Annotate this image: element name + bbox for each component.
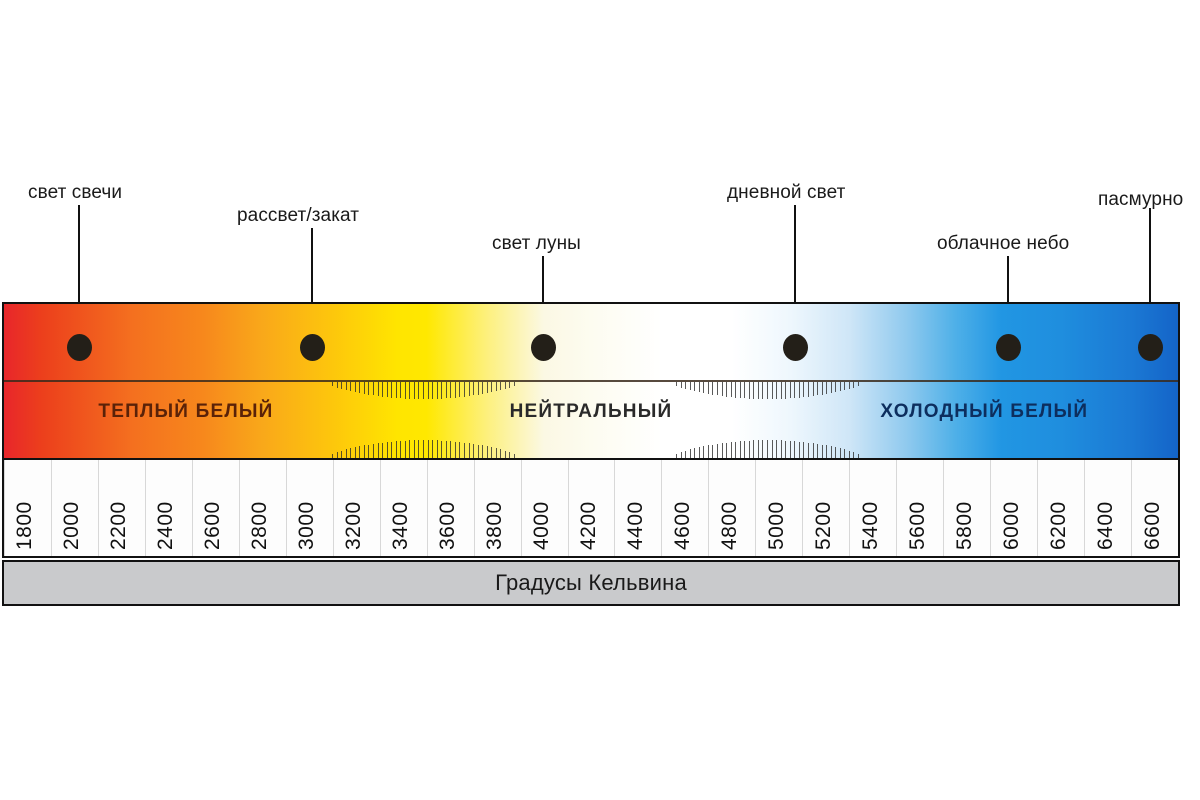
ruler-tick xyxy=(455,382,456,398)
ruler-tick xyxy=(509,382,510,388)
ruler-tick xyxy=(355,382,356,392)
ruler-tick xyxy=(726,443,727,458)
kelvin-value-2400: 2400 xyxy=(154,501,178,550)
ruler-tick xyxy=(514,454,515,458)
callout-label-moon: свет луны xyxy=(492,233,581,255)
ruler-tick xyxy=(346,449,347,458)
kelvin-divider xyxy=(990,460,991,558)
ruler-tick xyxy=(744,441,745,458)
ruler-tick xyxy=(469,443,470,458)
ruler-tick xyxy=(482,445,483,458)
kelvin-divider xyxy=(521,460,522,558)
ruler-tick xyxy=(387,442,388,458)
kelvin-divider xyxy=(1037,460,1038,558)
callout-label-daylight: дневной свет xyxy=(727,182,845,204)
kelvin-value-3600: 3600 xyxy=(436,501,460,550)
kelvin-value-3200: 3200 xyxy=(342,501,366,550)
ruler-tick xyxy=(373,382,374,395)
ruler-tick xyxy=(496,448,497,458)
ruler-tick xyxy=(441,382,442,399)
ruler-tick xyxy=(382,443,383,458)
ruler-tick xyxy=(409,440,410,458)
kelvin-divider xyxy=(896,460,897,558)
kelvin-divider xyxy=(661,460,662,558)
ruler-tick xyxy=(822,445,823,458)
ruler-tick xyxy=(726,382,727,397)
ruler-tick xyxy=(382,382,383,397)
marker-dot-moon[interactable] xyxy=(531,334,556,361)
ruler-tick xyxy=(781,382,782,399)
ruler-tick xyxy=(396,382,397,398)
ruler-tick xyxy=(762,382,763,399)
kelvin-value-4600: 4600 xyxy=(671,501,695,550)
ruler-tick xyxy=(690,382,691,390)
ruler-tick xyxy=(858,382,859,386)
tick-group-lower-right xyxy=(676,436,858,458)
ruler-tick xyxy=(391,382,392,398)
ruler-tick xyxy=(690,449,691,458)
ruler-tick xyxy=(694,448,695,458)
ruler-tick xyxy=(400,441,401,458)
kelvin-divider xyxy=(333,460,334,558)
ruler-tick xyxy=(731,382,732,397)
color-temperature-chart: свет свечирассвет/закатсвет луныдневной … xyxy=(0,0,1200,800)
ruler-tick xyxy=(478,445,479,458)
kelvin-value-6600: 6600 xyxy=(1141,501,1165,550)
ruler-tick xyxy=(491,382,492,392)
ruler-tick xyxy=(341,382,342,389)
callout-label-sunrise: рассвет/закат xyxy=(237,205,359,227)
ruler-tick xyxy=(378,443,379,458)
ruler-tick xyxy=(685,451,686,459)
ruler-tick xyxy=(835,382,836,392)
ruler-tick xyxy=(455,442,456,458)
kelvin-divider xyxy=(286,460,287,558)
ruler-tick xyxy=(473,444,474,458)
axis-title-bar: Градусы Кельвина xyxy=(2,560,1180,606)
ruler-tick xyxy=(822,382,823,395)
ruler-tick xyxy=(803,382,804,397)
ruler-tick xyxy=(767,440,768,458)
kelvin-divider xyxy=(614,460,615,558)
ruler-tick xyxy=(717,444,718,458)
ruler-tick xyxy=(359,382,360,393)
callout-label-candle: свет свечи xyxy=(28,182,122,204)
kelvin-divider xyxy=(802,460,803,558)
ruler-tick xyxy=(505,382,506,389)
tick-group-upper-right xyxy=(676,382,858,404)
ruler-tick xyxy=(359,446,360,458)
band-label-neutral: НЕЙТРАЛЬНЫЙ xyxy=(510,401,673,423)
ruler-tick xyxy=(703,446,704,458)
marker-dot-candle[interactable] xyxy=(67,334,92,361)
ruler-tick xyxy=(699,447,700,458)
kelvin-divider xyxy=(4,460,5,558)
kelvin-value-1800: 1800 xyxy=(13,501,37,550)
ruler-tick xyxy=(708,445,709,458)
ruler-tick xyxy=(685,382,686,389)
kelvin-divider xyxy=(145,460,146,558)
kelvin-value-6200: 6200 xyxy=(1047,501,1071,550)
ruler-tick xyxy=(500,449,501,458)
ruler-tick xyxy=(826,445,827,458)
ruler-tick xyxy=(459,382,460,397)
kelvin-scale-strip: 1800200022002400260028003000320034003600… xyxy=(2,460,1180,558)
ruler-tick xyxy=(446,441,447,458)
kelvin-value-2000: 2000 xyxy=(60,501,84,550)
kelvin-value-4200: 4200 xyxy=(577,501,601,550)
ruler-tick xyxy=(414,382,415,399)
ruler-tick xyxy=(808,382,809,397)
ruler-tick xyxy=(418,382,419,399)
ruler-tick xyxy=(423,382,424,399)
ruler-tick xyxy=(350,382,351,391)
ruler-tick xyxy=(428,382,429,399)
spectrum-divider xyxy=(4,380,1178,382)
ruler-tick xyxy=(772,382,773,399)
ruler-tick xyxy=(387,382,388,397)
kelvin-value-4400: 4400 xyxy=(624,501,648,550)
ruler-tick xyxy=(446,382,447,398)
kelvin-value-5600: 5600 xyxy=(906,501,930,550)
kelvin-value-6000: 6000 xyxy=(1000,501,1024,550)
ruler-tick xyxy=(341,451,342,459)
kelvin-value-4800: 4800 xyxy=(718,501,742,550)
kelvin-value-5000: 5000 xyxy=(765,501,789,550)
kelvin-value-5800: 5800 xyxy=(953,501,977,550)
ruler-tick xyxy=(437,440,438,458)
kelvin-value-5200: 5200 xyxy=(812,501,836,550)
band-label-warm: ТЕПЛЫЙ БЕЛЫЙ xyxy=(98,401,273,423)
ruler-tick xyxy=(722,443,723,458)
ruler-tick xyxy=(785,382,786,399)
ruler-tick xyxy=(391,442,392,458)
ruler-tick xyxy=(858,454,859,458)
ruler-tick xyxy=(776,440,777,458)
ruler-tick xyxy=(337,452,338,458)
ruler-tick xyxy=(332,454,333,458)
ruler-tick xyxy=(735,442,736,458)
ruler-tick xyxy=(849,382,850,389)
ruler-tick xyxy=(414,440,415,458)
kelvin-value-2800: 2800 xyxy=(248,501,272,550)
ruler-tick xyxy=(749,382,750,399)
ruler-tick xyxy=(368,445,369,458)
kelvin-divider xyxy=(51,460,52,558)
ruler-tick xyxy=(826,382,827,394)
axis-title-label: Градусы Кельвина xyxy=(495,570,687,596)
callout-label-overcast: пасмурно xyxy=(1098,189,1183,211)
ruler-tick xyxy=(373,444,374,458)
ruler-tick xyxy=(405,441,406,459)
ruler-tick xyxy=(808,443,809,458)
ruler-tick xyxy=(813,443,814,458)
ruler-tick xyxy=(487,446,488,458)
ruler-tick xyxy=(799,382,800,398)
kelvin-value-3000: 3000 xyxy=(295,501,319,550)
ruler-tick xyxy=(753,440,754,458)
kelvin-divider xyxy=(192,460,193,558)
ruler-tick xyxy=(722,382,723,396)
ruler-tick xyxy=(496,382,497,391)
kelvin-value-3800: 3800 xyxy=(483,501,507,550)
ruler-tick xyxy=(378,382,379,396)
kelvin-divider xyxy=(708,460,709,558)
ruler-tick xyxy=(712,382,713,395)
ruler-tick xyxy=(676,382,677,386)
ruler-tick xyxy=(355,447,356,458)
ruler-tick xyxy=(703,382,704,393)
ruler-tick xyxy=(509,452,510,458)
ruler-tick xyxy=(712,445,713,458)
ruler-tick xyxy=(423,440,424,458)
ruler-tick xyxy=(469,382,470,396)
ruler-tick xyxy=(491,447,492,458)
tick-group-lower-left xyxy=(332,436,514,458)
ruler-tick xyxy=(817,382,818,395)
ruler-tick xyxy=(740,382,741,398)
ruler-tick xyxy=(813,382,814,396)
kelvin-divider xyxy=(427,460,428,558)
ruler-tick xyxy=(337,382,338,388)
ruler-tick xyxy=(346,382,347,390)
ruler-tick xyxy=(432,382,433,399)
ruler-tick xyxy=(753,382,754,399)
ruler-tick xyxy=(699,382,700,392)
ruler-tick xyxy=(749,441,750,459)
kelvin-divider xyxy=(943,460,944,558)
ruler-tick xyxy=(731,442,732,458)
ruler-tick xyxy=(368,382,369,395)
ruler-tick xyxy=(740,441,741,458)
ruler-tick xyxy=(844,449,845,458)
kelvin-divider xyxy=(568,460,569,558)
ruler-tick xyxy=(762,440,763,458)
ruler-tick xyxy=(364,445,365,458)
ruler-tick xyxy=(776,382,777,399)
ruler-tick xyxy=(464,382,465,397)
kelvin-value-2600: 2600 xyxy=(201,501,225,550)
ruler-tick xyxy=(450,382,451,398)
ruler-tick xyxy=(758,440,759,458)
ruler-tick xyxy=(400,382,401,398)
ruler-tick xyxy=(478,382,479,395)
ruler-tick xyxy=(767,382,768,399)
marker-dot-daylight[interactable] xyxy=(783,334,808,361)
ruler-tick xyxy=(482,382,483,394)
tick-group-upper-left xyxy=(332,382,514,404)
kelvin-divider xyxy=(98,460,99,558)
ruler-tick xyxy=(514,382,515,386)
kelvin-divider xyxy=(755,460,756,558)
marker-dot-overcast[interactable] xyxy=(1138,334,1163,361)
kelvin-divider xyxy=(380,460,381,558)
ruler-tick xyxy=(487,382,488,393)
ruler-tick xyxy=(744,382,745,398)
ruler-tick xyxy=(831,382,832,393)
ruler-tick xyxy=(409,382,410,399)
ruler-tick xyxy=(432,440,433,458)
ruler-tick xyxy=(428,440,429,458)
ruler-tick xyxy=(681,452,682,458)
ruler-tick xyxy=(405,382,406,399)
ruler-tick xyxy=(437,382,438,399)
kelvin-divider xyxy=(239,460,240,558)
ruler-tick xyxy=(794,382,795,398)
ruler-tick xyxy=(781,440,782,458)
ruler-tick xyxy=(717,382,718,395)
ruler-tick xyxy=(831,446,832,458)
ruler-tick xyxy=(418,440,419,458)
ruler-tick xyxy=(790,441,791,458)
ruler-tick xyxy=(473,382,474,395)
ruler-tick xyxy=(817,444,818,458)
kelvin-divider xyxy=(474,460,475,558)
ruler-tick xyxy=(464,443,465,458)
ruler-tick xyxy=(735,382,736,398)
ruler-tick xyxy=(681,382,682,388)
callout-label-cloudy: облачное небо xyxy=(937,233,1069,255)
ruler-tick xyxy=(505,451,506,459)
ruler-tick xyxy=(708,382,709,394)
ruler-tick xyxy=(785,441,786,459)
kelvin-value-4000: 4000 xyxy=(530,501,554,550)
ruler-tick xyxy=(853,452,854,458)
ruler-tick xyxy=(844,382,845,390)
kelvin-value-3400: 3400 xyxy=(389,501,413,550)
ruler-tick xyxy=(803,442,804,458)
ruler-tick xyxy=(772,440,773,458)
spectrum-bar: ТЕПЛЫЙ БЕЛЫЙНЕЙТРАЛЬНЫЙХОЛОДНЫЙ БЕЛЫЙ xyxy=(2,302,1180,460)
ruler-tick xyxy=(758,382,759,399)
kelvin-divider xyxy=(1084,460,1085,558)
marker-dot-sunrise[interactable] xyxy=(300,334,325,361)
kelvin-value-2200: 2200 xyxy=(107,501,131,550)
ruler-tick xyxy=(676,454,677,458)
kelvin-value-6400: 6400 xyxy=(1094,501,1118,550)
ruler-tick xyxy=(794,441,795,458)
ruler-tick xyxy=(459,442,460,458)
ruler-tick xyxy=(450,441,451,458)
ruler-tick xyxy=(790,382,791,398)
ruler-tick xyxy=(835,447,836,458)
kelvin-value-5400: 5400 xyxy=(859,501,883,550)
kelvin-divider xyxy=(1131,460,1132,558)
ruler-tick xyxy=(840,448,841,458)
ruler-tick xyxy=(849,451,850,459)
ruler-tick xyxy=(364,382,365,394)
ruler-tick xyxy=(799,442,800,458)
marker-dot-cloudy[interactable] xyxy=(996,334,1021,361)
ruler-tick xyxy=(853,382,854,388)
ruler-tick xyxy=(350,448,351,458)
ruler-tick xyxy=(500,382,501,390)
ruler-tick xyxy=(332,382,333,386)
ruler-tick xyxy=(396,441,397,458)
kelvin-divider xyxy=(849,460,850,558)
band-label-cool: ХОЛОДНЫЙ БЕЛЫЙ xyxy=(880,401,1088,423)
ruler-tick xyxy=(694,382,695,391)
ruler-tick xyxy=(441,441,442,459)
ruler-tick xyxy=(840,382,841,391)
